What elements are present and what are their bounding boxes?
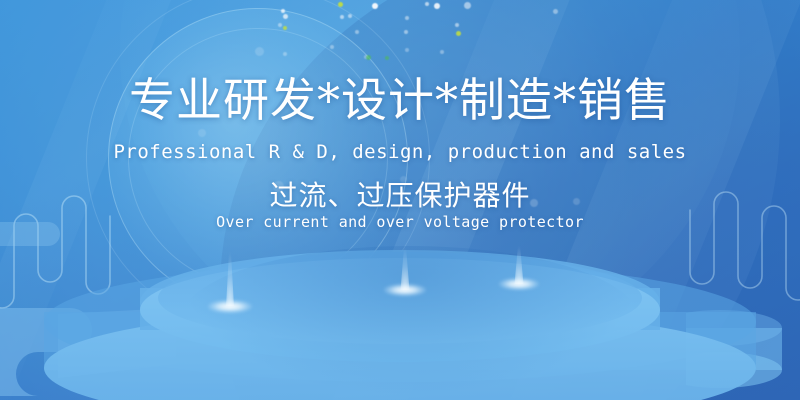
subheading-chinese: 过流、过压保护器件 [0,178,800,214]
promo-banner: 专业研发*设计*制造*销售 Professional R & D, design… [0,0,800,400]
headline-chinese: 专业研发*设计*制造*销售 [0,72,800,128]
subheading-english: Over current and over voltage protector [0,211,800,233]
banner-text-block: 专业研发*设计*制造*销售 Professional R & D, design… [0,0,800,400]
headline-english: Professional R & D, design, production a… [0,139,800,165]
